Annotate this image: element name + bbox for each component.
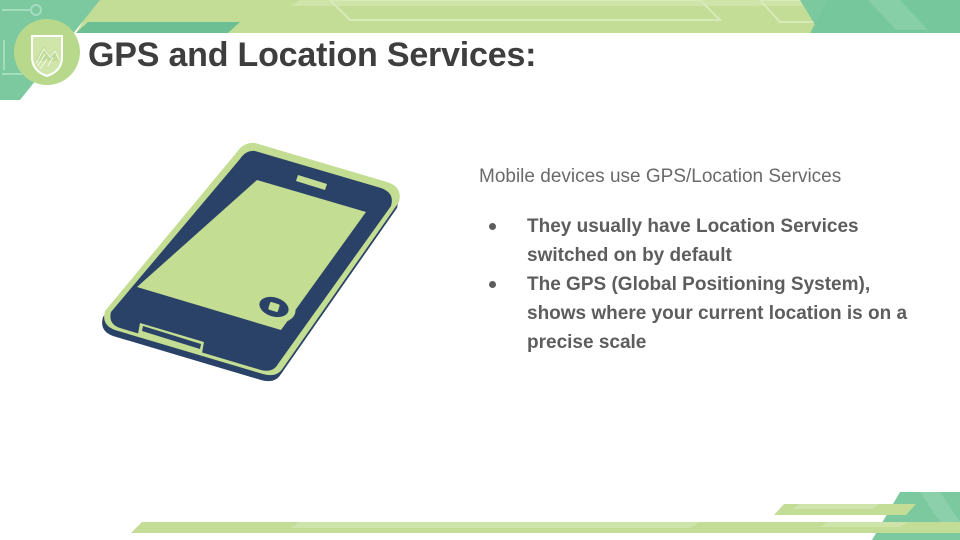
slide-canvas: GPS and Location Services: (0, 0, 960, 540)
bullet-dot-icon (489, 223, 496, 230)
intro-paragraph: Mobile devices use GPS/Location Services (479, 164, 919, 190)
list-item-label: The GPS (Global Positioning System), sho… (527, 274, 907, 353)
shield-icon (32, 36, 62, 76)
list-item-label: They usually have Location Services swit… (527, 216, 859, 266)
header-accent-right (700, 0, 960, 50)
smartphone-illustration (85, 140, 430, 395)
list-item: They usually have Location Services swit… (479, 212, 919, 270)
bullet-list: They usually have Location Services swit… (479, 212, 919, 357)
logo-badge (14, 19, 80, 85)
page-title: GPS and Location Services: (88, 36, 536, 75)
bullet-dot-icon (489, 281, 496, 288)
footer-decoration (0, 480, 960, 540)
content-text-block: Mobile devices use GPS/Location Services… (479, 164, 919, 357)
list-item: The GPS (Global Positioning System), sho… (479, 270, 919, 357)
